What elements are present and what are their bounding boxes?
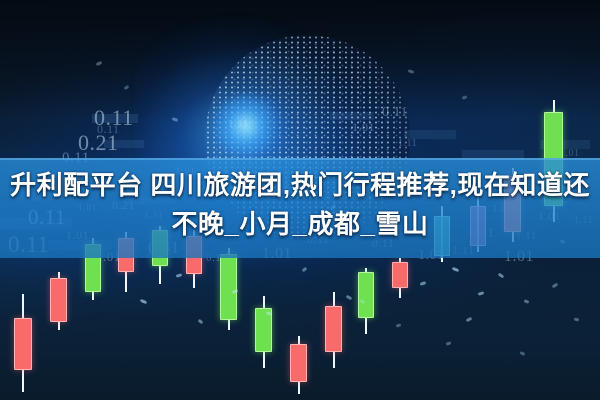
particle-streak-icon (140, 299, 148, 305)
particle-streak-icon (420, 281, 427, 286)
particle-streak-icon (198, 319, 204, 325)
particle-streak-icon (302, 267, 308, 273)
particle-streak-icon (266, 311, 273, 316)
particle-streak-icon (408, 69, 415, 74)
title-line-2: 不晚_小月_成都_雪山 (6, 205, 594, 244)
particle-streak-icon (96, 61, 103, 66)
particle-streak-icon (346, 295, 353, 301)
particle-streak-icon (462, 95, 468, 100)
particle-streak-icon (232, 289, 239, 294)
particle-streak-icon (176, 273, 183, 277)
particle-streak-icon (124, 85, 130, 90)
particle-streak-icon (552, 283, 559, 289)
particle-streak-icon (478, 291, 485, 296)
particle-streak-icon (172, 117, 179, 122)
particle-streak-icon (396, 323, 402, 327)
title-line-1: 升利配平台 四川旅游团,热门行程推荐,现在知道还 (6, 166, 594, 205)
particle-streak-icon (520, 351, 526, 356)
particle-streak-icon (574, 317, 580, 321)
particle-streak-icon (452, 267, 460, 272)
banner-image: 0.110.111.010.111.111.011.010.211.010.11… (0, 0, 600, 400)
particle-streak-icon (446, 341, 452, 346)
band-top-edge (0, 158, 600, 160)
page-title: 升利配平台 四川旅游团,热门行程推荐,现在知道还 不晚_小月_成都_雪山 (0, 166, 600, 244)
particle-streak-icon (360, 299, 366, 304)
particle-streak-icon (498, 273, 505, 279)
particle-streak-icon (524, 299, 530, 304)
particle-streak-icon (466, 317, 473, 322)
